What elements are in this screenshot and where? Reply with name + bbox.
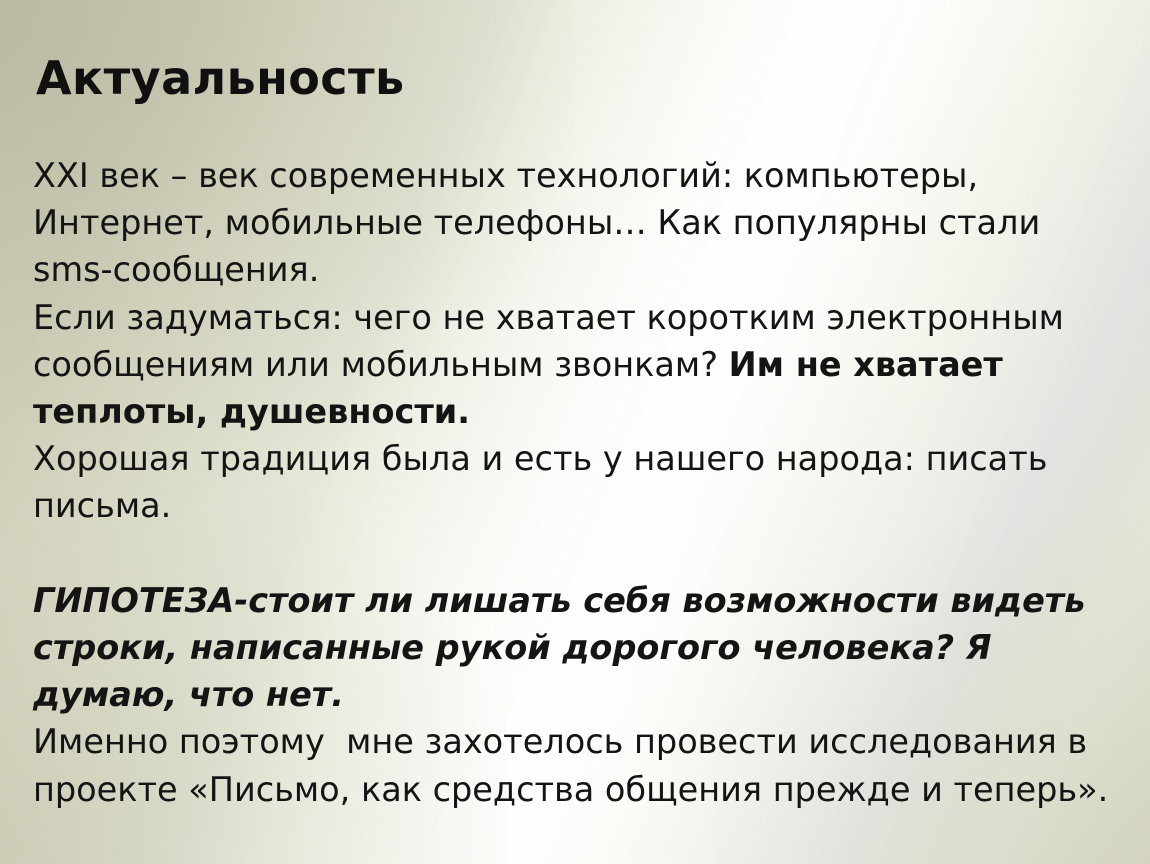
presentation-slide: Актуальность XXI век – век современных т… bbox=[0, 0, 1150, 864]
paragraph-tradition: Хорошая традиция была и есть у нашего на… bbox=[33, 435, 1123, 529]
page-title: Актуальность bbox=[36, 53, 405, 105]
paragraph-technology: XXI век – век современных технологий: ко… bbox=[33, 152, 1123, 294]
paragraph-blank-spacer bbox=[33, 530, 1123, 577]
paragraph-hypothesis: ГИПОТЕЗА-стоит ли лишать себя возможност… bbox=[33, 577, 1123, 719]
paragraph-warmth: Если задуматься: чего не хватает коротки… bbox=[33, 294, 1123, 436]
slide-content: Актуальность XXI век – век современных т… bbox=[0, 0, 1150, 864]
slide-body: XXI век – век современных технологий: ко… bbox=[33, 152, 1123, 813]
paragraph-project: Именно поэтому мне захотелось провести и… bbox=[33, 718, 1123, 812]
